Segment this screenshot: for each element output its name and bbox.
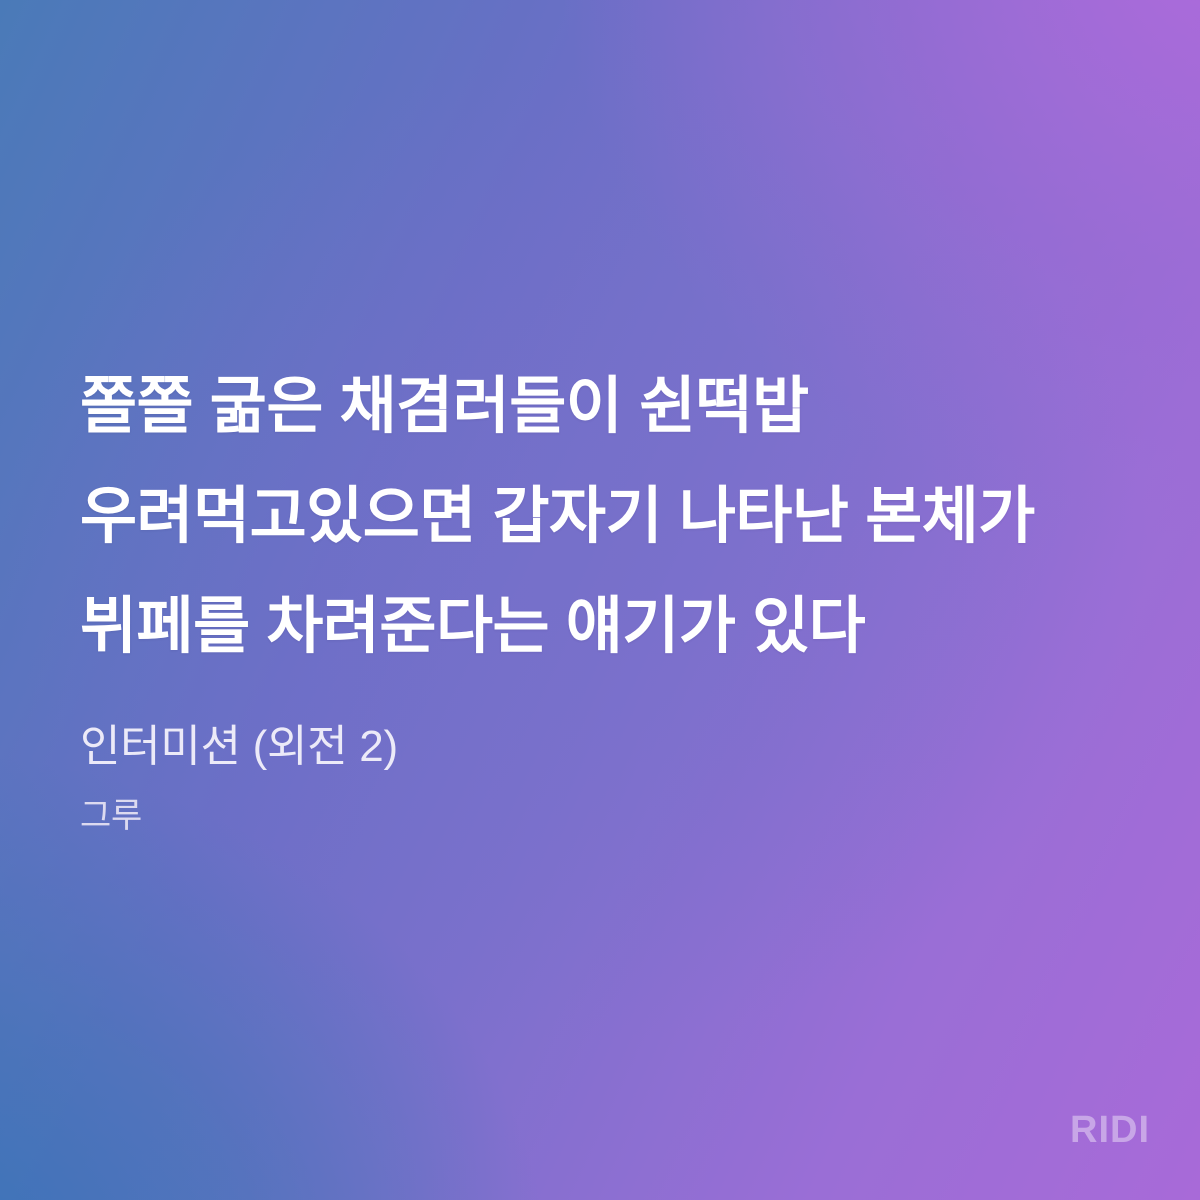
quote-text: 쫄쫄 굶은 채겸러들이 쉰떡밥 우려먹고있으면 갑자기 나타난 본체가 뷔페를 … <box>80 352 1140 682</box>
quote-card: 쫄쫄 굶은 채겸러들이 쉰떡밥 우려먹고있으면 갑자기 나타난 본체가 뷔페를 … <box>0 0 1200 1200</box>
book-author: 그루 <box>80 788 1140 844</box>
ridi-brand-logo: RIDI <box>1070 1109 1150 1152</box>
quote-content: 쫄쫄 굶은 채겸러들이 쉰떡밥 우려먹고있으면 갑자기 나타난 본체가 뷔페를 … <box>80 352 1140 844</box>
book-meta: 인터미션 (외전 2) 그루 <box>80 716 1140 844</box>
book-title: 인터미션 (외전 2) <box>80 716 1140 778</box>
